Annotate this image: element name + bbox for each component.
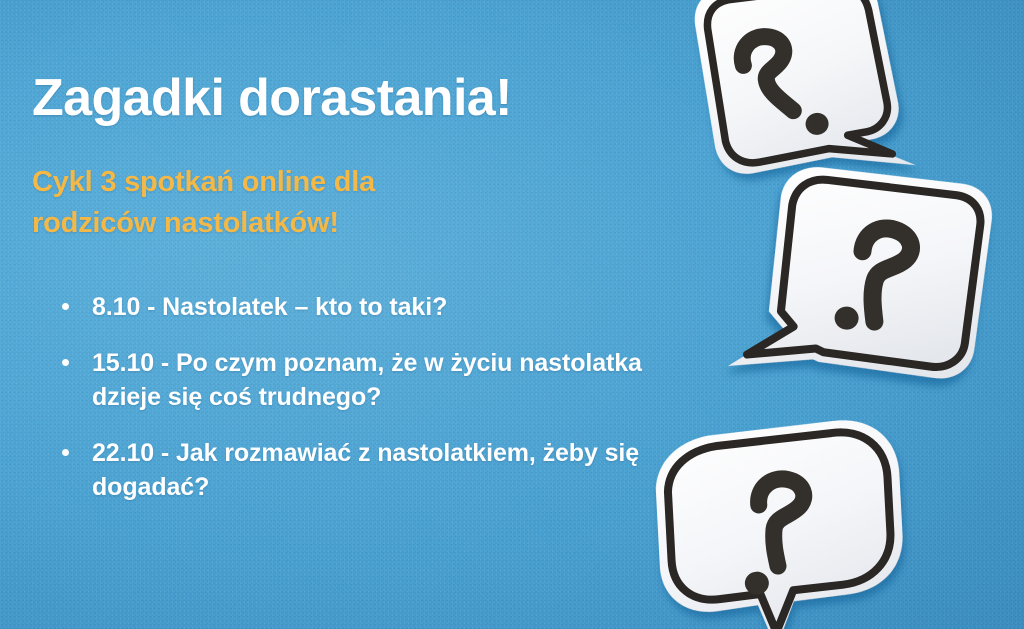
poster-canvas: Zagadki dorastania! Cykl 3 spotkań onlin… <box>0 0 1024 629</box>
session-list: 8.10 - Nastolatek – kto to taki? 15.10 -… <box>54 290 654 504</box>
list-item: 15.10 - Po czym poznam, że w życiu nasto… <box>54 346 654 414</box>
speech-bubble-question-mark-middle <box>722 168 1018 400</box>
text-column: Zagadki dorastania! Cykl 3 spotkań onlin… <box>32 0 672 629</box>
list-item: 8.10 - Nastolatek – kto to taki? <box>54 290 654 324</box>
page-subtitle: Cykl 3 spotkań online dla rodziców nasto… <box>32 162 502 244</box>
speech-bubble-question-mark-bottom <box>638 418 918 629</box>
page-title: Zagadki dorastania! <box>32 72 512 124</box>
list-item: 22.10 - Jak rozmawiać z nastolatkiem, że… <box>54 436 654 504</box>
